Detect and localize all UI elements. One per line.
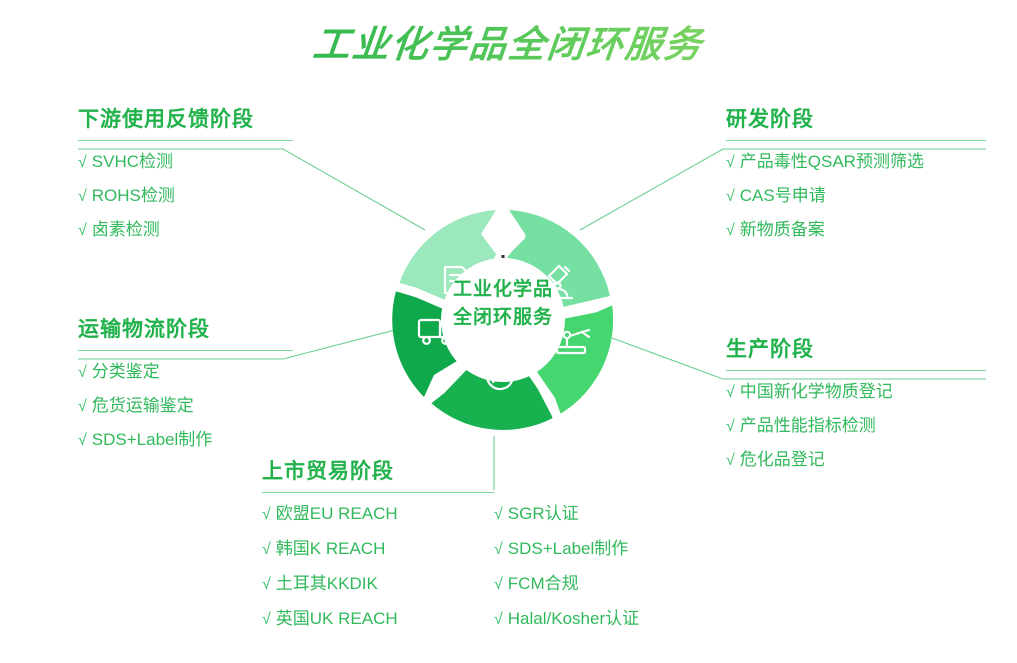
check-icon: √ xyxy=(262,542,271,558)
check-icon: √ xyxy=(726,155,735,171)
robot-arm-icon xyxy=(557,330,589,353)
check-icon: √ xyxy=(494,542,503,558)
list-item-label: CAS号申请 xyxy=(740,186,826,205)
section-downstream-heading: 下游使用反馈阶段 xyxy=(78,103,293,133)
check-icon: √ xyxy=(78,399,87,415)
list-item-label: ROHS检测 xyxy=(92,186,175,205)
check-icon: √ xyxy=(262,612,271,628)
list-item: √FCM合规 xyxy=(494,575,702,593)
separator-bottom xyxy=(427,367,463,401)
list-item: √卤素检测 xyxy=(78,221,293,239)
section-production-items: √中国新化学物质登记 √产品性能指标检测 √危化品登记 xyxy=(726,383,986,469)
check-icon: √ xyxy=(726,223,735,239)
section-logistics-rule xyxy=(78,350,293,351)
section-production: 生产阶段 √中国新化学物质登记 √产品性能指标检测 √危化品登记 xyxy=(726,333,986,485)
section-production-heading: 生产阶段 xyxy=(726,333,986,363)
section-downstream-rule xyxy=(78,140,293,141)
list-item: √Halal/Kosher认证 xyxy=(494,610,702,628)
check-icon: √ xyxy=(494,507,503,523)
section-trade-rule xyxy=(262,492,494,493)
list-item-label: 产品性能指标检测 xyxy=(740,416,876,435)
check-icon: √ xyxy=(494,612,503,628)
list-item: √SDS+Label制作 xyxy=(78,431,293,449)
list-item: √SDS+Label制作 xyxy=(494,540,702,558)
list-item-label: 中国新化学物质登记 xyxy=(740,382,893,401)
list-item-label: FCM合规 xyxy=(508,574,579,593)
list-item: √ROHS检测 xyxy=(78,187,293,205)
trending-up-circle-icon xyxy=(487,363,513,389)
list-item-label: 土耳其KKDIK xyxy=(276,574,378,593)
list-item: √产品性能指标检测 xyxy=(726,417,986,435)
check-icon: √ xyxy=(78,365,87,381)
section-research-rule xyxy=(726,140,986,141)
section-downstream-feedback: 下游使用反馈阶段 √SVHC检测 √ROHS检测 √卤素检测 xyxy=(78,103,293,255)
section-transport-logistics: 运输物流阶段 √分类鉴定 √危货运输鉴定 √SDS+Label制作 xyxy=(78,313,293,465)
list-item-label: SDS+Label制作 xyxy=(508,539,628,558)
section-production-rule xyxy=(726,370,986,371)
list-item-label: 英国UK REACH xyxy=(276,609,398,628)
section-logistics-items: √分类鉴定 √危货运输鉴定 √SDS+Label制作 xyxy=(78,363,293,449)
wheel-center-label: 工业化学品 全闭环服务 xyxy=(418,276,588,331)
section-trade-items-right: √SGR认证 √SDS+Label制作 √FCM合规 √Halal/Kosher… xyxy=(494,505,702,645)
list-item: √SGR认证 xyxy=(494,505,702,523)
check-icon: √ xyxy=(78,189,87,205)
wheel-center-line2: 全闭环服务 xyxy=(418,304,588,332)
check-icon: √ xyxy=(262,577,271,593)
section-trade-columns: √欧盟EU REACH √韩国K REACH √土耳其KKDIK √英国UK R… xyxy=(262,505,702,645)
list-item-label: 卤素检测 xyxy=(92,220,160,239)
list-item-label: 产品毒性QSAR预测筛选 xyxy=(740,152,924,171)
list-item-label: SDS+Label制作 xyxy=(92,430,212,449)
list-item-label: 危化品登记 xyxy=(740,450,825,469)
list-item: √新物质备案 xyxy=(726,221,986,239)
section-research-heading: 研发阶段 xyxy=(726,103,986,133)
section-market-trade: 上市贸易阶段 √欧盟EU REACH √韩国K REACH √土耳其KKDIK … xyxy=(262,455,702,645)
check-icon: √ xyxy=(262,507,271,523)
separator-right-lower xyxy=(533,374,557,417)
section-trade-items-left: √欧盟EU REACH √韩国K REACH √土耳其KKDIK √英国UK R… xyxy=(262,505,494,645)
page-title: 工业化学品全闭环服务 xyxy=(0,14,1017,68)
list-item-label: 危货运输鉴定 xyxy=(92,396,194,415)
list-item-label: 分类鉴定 xyxy=(92,362,160,381)
list-item: √英国UK REACH xyxy=(262,610,494,628)
list-item-label: SGR认证 xyxy=(508,504,579,523)
check-icon: √ xyxy=(726,385,735,401)
list-item: √土耳其KKDIK xyxy=(262,575,494,593)
check-icon: √ xyxy=(494,577,503,593)
check-icon: √ xyxy=(78,223,87,239)
list-item-label: 欧盟EU REACH xyxy=(276,504,398,523)
start-point-marker xyxy=(502,255,505,258)
list-item-label: 韩国K REACH xyxy=(276,539,386,558)
list-item-label: Halal/Kosher认证 xyxy=(508,609,639,628)
check-icon: √ xyxy=(78,433,87,449)
wheel-center-line1: 工业化学品 xyxy=(418,276,588,304)
list-item: √SVHC检测 xyxy=(78,153,293,171)
section-research-items: √产品毒性QSAR预测筛选 √CAS号申请 √新物质备案 xyxy=(726,153,986,239)
list-item-label: SVHC检测 xyxy=(92,152,173,171)
section-logistics-heading: 运输物流阶段 xyxy=(78,313,293,343)
check-icon: √ xyxy=(78,155,87,171)
list-item: √韩国K REACH xyxy=(262,540,494,558)
list-item: √中国新化学物质登记 xyxy=(726,383,986,401)
separator-top xyxy=(499,210,521,258)
list-item: √欧盟EU REACH xyxy=(262,505,494,523)
list-item-label: 新物质备案 xyxy=(740,220,825,239)
list-item: √CAS号申请 xyxy=(726,187,986,205)
section-research-development: 研发阶段 √产品毒性QSAR预测筛选 √CAS号申请 √新物质备案 xyxy=(726,103,986,255)
list-item: √产品毒性QSAR预测筛选 xyxy=(726,153,986,171)
check-icon: √ xyxy=(726,419,735,435)
check-icon: √ xyxy=(726,453,735,469)
list-item: √危化品登记 xyxy=(726,451,986,469)
check-icon: √ xyxy=(726,189,735,205)
list-item: √分类鉴定 xyxy=(78,363,293,381)
wheel-segment-trade[interactable] xyxy=(431,366,553,430)
section-downstream-items: √SVHC检测 √ROHS检测 √卤素检测 xyxy=(78,153,293,239)
section-trade-heading: 上市贸易阶段 xyxy=(262,455,702,485)
list-item: √危货运输鉴定 xyxy=(78,397,293,415)
